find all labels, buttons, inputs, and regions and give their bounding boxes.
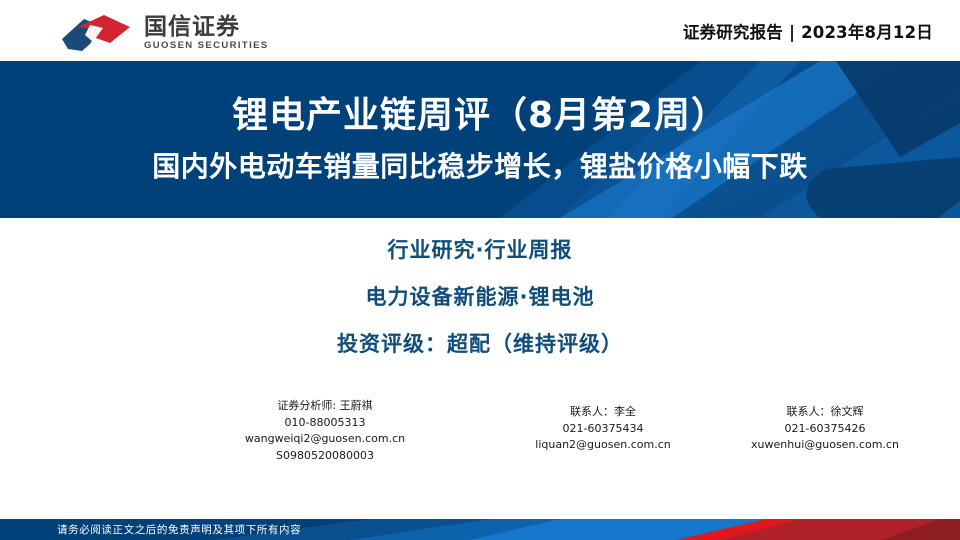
contact-associate-1: 联系人：李全 021-60375434 liquan2@guosen.com.c… [498,398,708,454]
sector-line: 电力设备新能源·锂电池 [0,287,960,308]
contact-analyst: 证券分析师: 王蔚祺 010-88005313 wangweiqi2@guose… [155,398,495,465]
page-footer: 请务必阅读正文之后的免责声明及其项下所有内容 [0,519,960,540]
guosen-wing-logo-icon [60,13,138,53]
report-subtitle: 国内外电动车销量同比稳步增长，锂盐价格小幅下跌 [152,150,808,184]
report-type-and-date: 证券研究报告 | 2023年8月12日 [683,0,933,61]
contact-email[interactable]: liquan2@guosen.com.cn [498,437,708,454]
footer-disclaimer: 请务必阅读正文之后的免责声明及其项下所有内容 [57,519,301,540]
investment-rating-line: 投资评级：超配（维持评级） [0,334,960,355]
banner-text-group: 锂电产业链周评（8月第2周） 国内外电动车销量同比稳步增长，锂盐价格小幅下跌 [0,61,960,218]
brand-wordmark: 国信证券 GUOSEN SECURITIES [144,15,269,51]
brand-name-en: GUOSEN SECURITIES [144,41,269,51]
page-header: 国信证券 GUOSEN SECURITIES 证券研究报告 | 2023年8月1… [0,0,960,61]
contact-email[interactable]: xuwenhui@guosen.com.cn [710,437,940,454]
contact-name: 联系人：李全 [498,404,708,421]
contact-license: S0980520080003 [155,448,495,465]
contact-phone: 021-60375434 [498,421,708,438]
title-banner: 锂电产业链周评（8月第2周） 国内外电动车销量同比稳步增长，锂盐价格小幅下跌 [0,61,960,218]
contact-name: 证券分析师: 王蔚祺 [155,398,495,415]
report-category-block: 行业研究·行业周报 电力设备新能源·锂电池 投资评级：超配（维持评级） [0,240,960,355]
industry-research-line: 行业研究·行业周报 [0,240,960,261]
contact-phone: 010-88005313 [155,415,495,432]
brand-logo: 国信证券 GUOSEN SECURITIES [60,13,269,53]
contact-email[interactable]: wangweiqi2@guosen.com.cn [155,431,495,448]
report-cover-page: 国信证券 GUOSEN SECURITIES 证券研究报告 | 2023年8月1… [0,0,960,540]
contact-phone: 021-60375426 [710,421,940,438]
contact-associate-2: 联系人：徐文辉 021-60375426 xuwenhui@guosen.com… [710,398,940,454]
brand-name-cn: 国信证券 [144,15,269,39]
contacts-row: 证券分析师: 王蔚祺 010-88005313 wangweiqi2@guose… [0,398,960,465]
report-title: 锂电产业链周评（8月第2周） [232,95,728,137]
contact-name: 联系人：徐文辉 [710,404,940,421]
